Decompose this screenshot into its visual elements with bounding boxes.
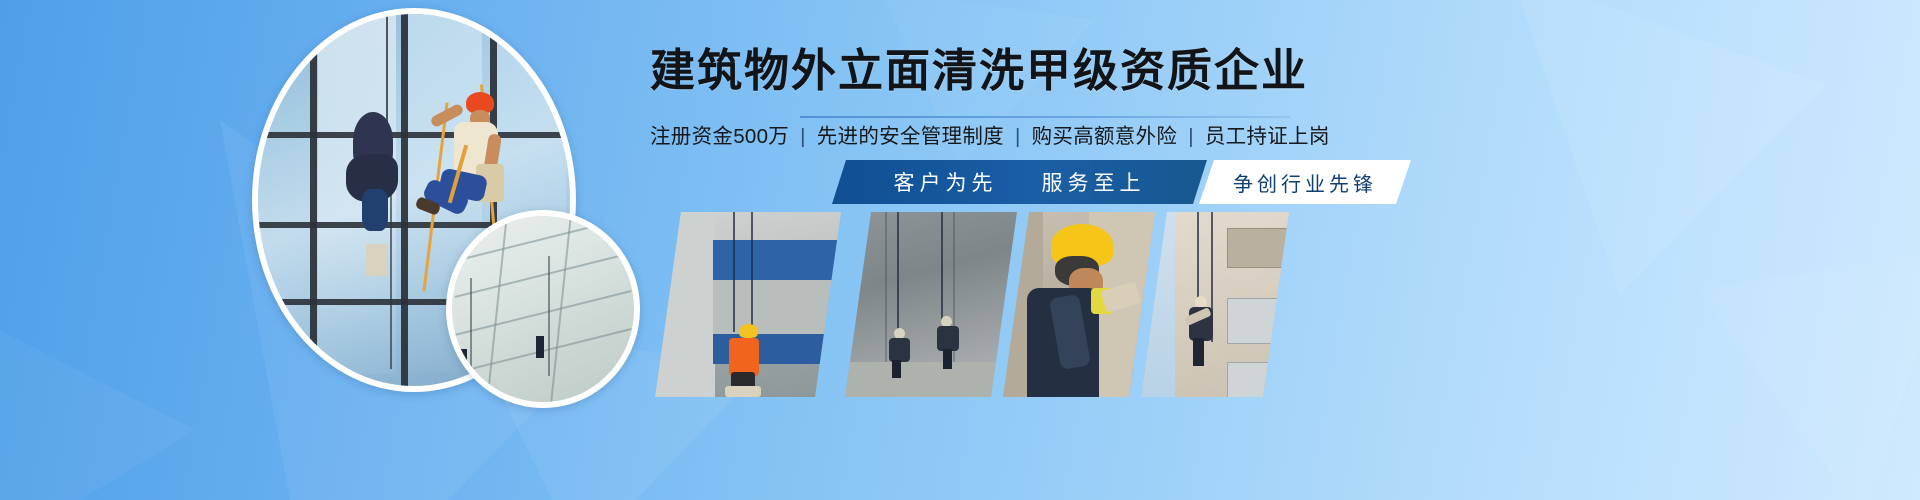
promo-banner: 建筑物外立面清洗甲级资质企业 注册资金500万 | 先进的安全管理制度 | 购买… <box>0 0 1920 500</box>
subtitle: 注册资金500万 | 先进的安全管理制度 | 购买高额意外险 | 员工持证上岗 <box>650 124 1310 150</box>
photo-strip <box>655 212 1275 397</box>
slogan-highlight: 争创行业先锋 <box>1233 168 1377 197</box>
decor-triangle-icon <box>0 300 200 500</box>
slogan-primary: 客户为先 <box>894 167 998 197</box>
subtitle-part-3: 购买高额意外险 <box>1032 125 1178 148</box>
hero-photo-facade-workers <box>446 210 640 408</box>
subtitle-part-2: 先进的安全管理制度 <box>817 125 1004 148</box>
photo-strip-item <box>1141 212 1289 397</box>
slogan-ribbon-dark-segment: 客户为先 服务至上 <box>832 160 1207 204</box>
subtitle-part-4: 员工持证上岗 <box>1205 125 1330 148</box>
subtitle-separator: | <box>795 125 811 148</box>
slogan-ribbon-light-segment: 争创行业先锋 <box>1199 160 1411 204</box>
slogan-ribbon: 客户为先 服务至上 争创行业先锋 <box>650 160 1300 204</box>
photo-strip-item <box>845 212 1017 397</box>
subtitle-separator: | <box>1183 125 1199 148</box>
slogan-secondary: 服务至上 <box>1042 167 1146 197</box>
headline-divider <box>800 116 1290 118</box>
subtitle-part-1: 注册资金500万 <box>650 125 789 148</box>
photo-strip-item <box>655 212 841 397</box>
decor-triangle-icon <box>1700 250 1920 500</box>
headline: 建筑物外立面清洗甲级资质企业 <box>650 48 1300 93</box>
subtitle-separator: | <box>1010 125 1026 148</box>
photo-strip-item <box>1003 212 1155 397</box>
